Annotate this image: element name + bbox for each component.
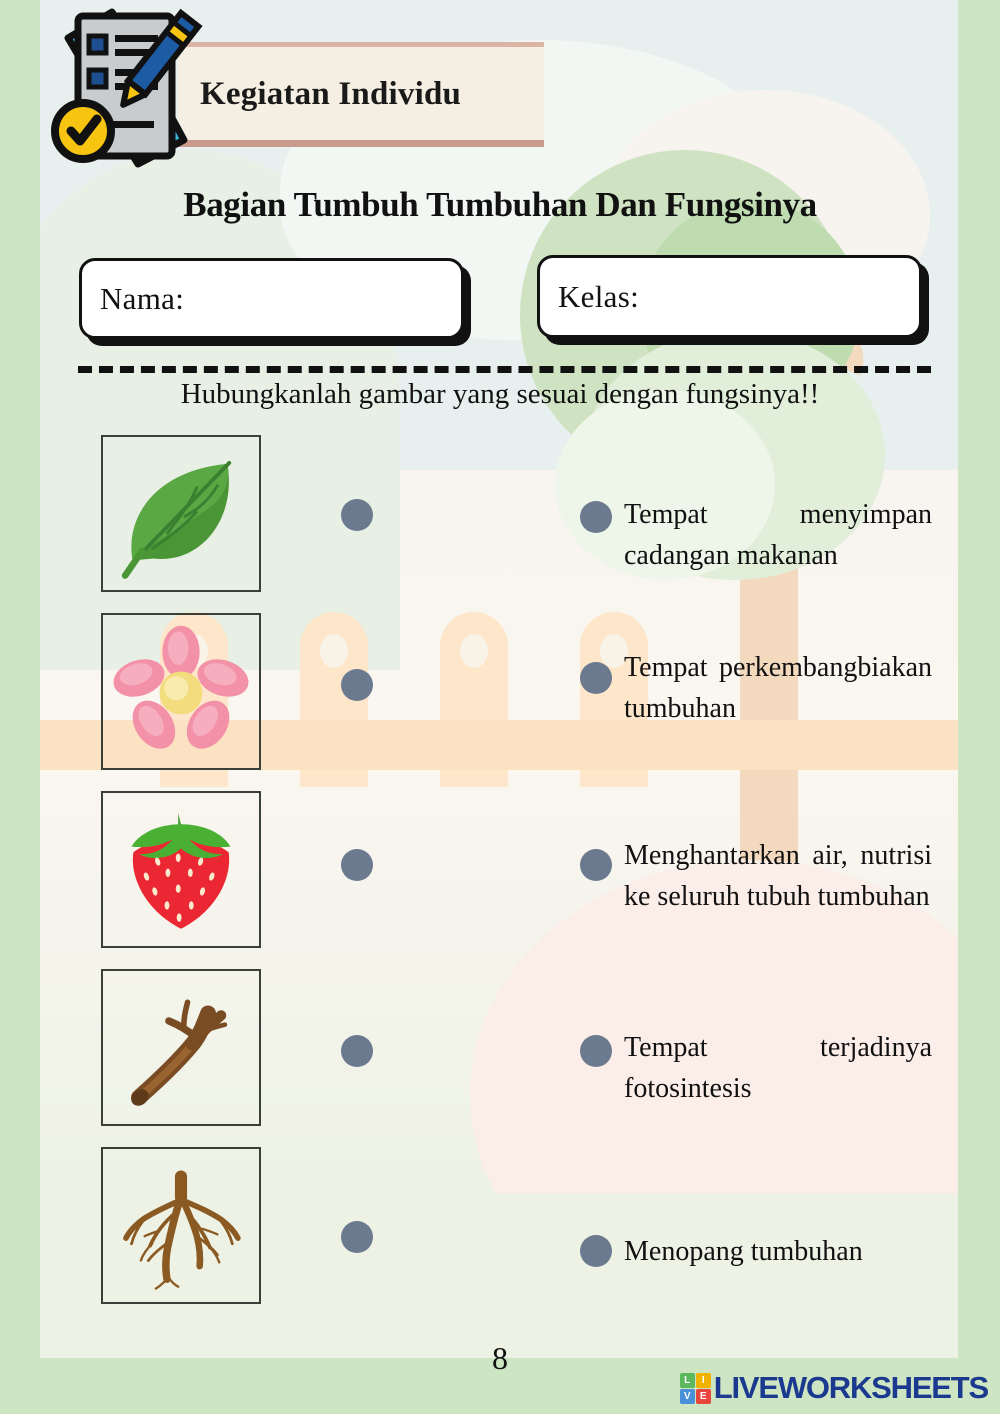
roots-icon (111, 1156, 251, 1296)
connector-dot-right[interactable] (580, 1235, 612, 1267)
logo-tile-i: I (696, 1373, 711, 1388)
logo-tiles: L I V E (680, 1373, 711, 1404)
connector-dot-right[interactable] (580, 501, 612, 533)
connector-dot-right[interactable] (580, 1035, 612, 1067)
picture-box-roots[interactable] (101, 1147, 261, 1304)
picture-box-leaf[interactable] (101, 435, 261, 592)
matching-exercise: Tempat menyimpan cadangan makanan Tempat… (0, 0, 1000, 1414)
connector-dot-right[interactable] (580, 849, 612, 881)
connector-dot-left[interactable] (341, 669, 373, 701)
connector-dot-left[interactable] (341, 1035, 373, 1067)
answer-option[interactable]: Menghantarkan air, nutrisi ke seluruh tu… (624, 836, 932, 917)
logo-tile-e: E (696, 1389, 711, 1404)
connector-dot-left[interactable] (341, 499, 373, 531)
answer-option[interactable]: Menopang tumbuhan (624, 1232, 932, 1273)
liveworksheets-logo: L I V E LIVEWORKSHEETS (680, 1370, 988, 1406)
stem-branch-icon (111, 978, 251, 1118)
clipboard-checklist-pencil-icon (42, 4, 214, 168)
activity-banner-label: Kegiatan Individu (200, 75, 461, 112)
answer-option[interactable]: Tempat menyimpan cadangan makanan (624, 495, 932, 576)
connector-dot-left[interactable] (341, 1221, 373, 1253)
picture-box-flower[interactable] (101, 613, 261, 770)
logo-wordmark: LIVEWORKSHEETS (714, 1370, 988, 1406)
connector-dot-right[interactable] (580, 662, 612, 694)
flower-icon (111, 622, 251, 762)
strawberry-icon (111, 800, 251, 940)
worksheet-page: Kegiatan Individu Bagian Tumbuh Tumbuhan… (0, 0, 1000, 1414)
picture-box-stem[interactable] (101, 969, 261, 1126)
connector-dot-left[interactable] (341, 849, 373, 881)
logo-tile-l: L (680, 1373, 695, 1388)
leaf-icon (110, 443, 252, 585)
logo-tile-v: V (680, 1389, 695, 1404)
picture-box-strawberry[interactable] (101, 791, 261, 948)
answer-option[interactable]: Tempat terjadinya fotosintesis (624, 1028, 932, 1109)
activity-banner: Kegiatan Individu (178, 42, 544, 147)
answer-option[interactable]: Tempat perkembangbiakan tumbuhan (624, 648, 932, 729)
